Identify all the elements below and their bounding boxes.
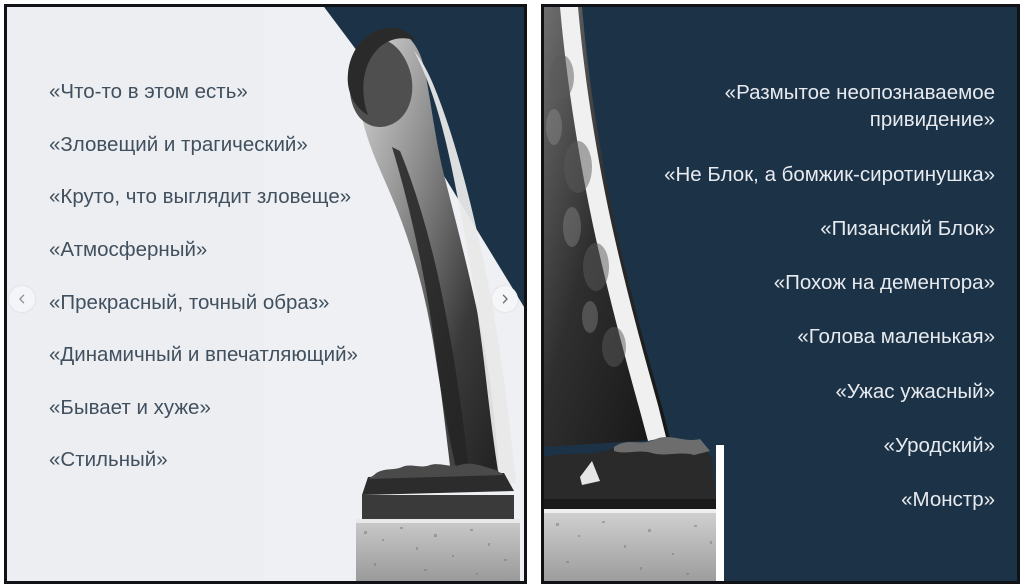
quote-item: «Бывает и хуже»	[49, 395, 449, 421]
quote-item: «Ужас ужасный»	[544, 378, 995, 405]
quote-item: «Стильный»	[49, 447, 449, 473]
carousel-next-button[interactable]	[492, 286, 518, 312]
quote-item: «Прекрасный, точный образ»	[49, 290, 449, 316]
carousel-prev-button[interactable]	[9, 286, 35, 312]
chevron-left-icon	[16, 293, 28, 305]
quote-item: «Пизанский Блок»	[544, 215, 995, 242]
quote-item: «Не Блок, а бомжик-сиротинушка»	[544, 161, 995, 188]
carousel-slide-positive[interactable]: «Что-то в этом есть» «Зловещий и трагиче…	[4, 4, 527, 584]
quote-list-positive: «Что-то в этом есть» «Зловещий и трагиче…	[7, 7, 449, 473]
quote-item: «Что-то в этом есть»	[49, 79, 449, 105]
quote-item: «Атмосферный»	[49, 237, 449, 263]
quote-item: «Монстр»	[544, 486, 995, 513]
quote-item: «Голова маленькая»	[544, 323, 995, 350]
quote-item: «Круто, что выглядит зловеще»	[49, 184, 449, 210]
quote-item: «Уродский»	[544, 432, 995, 459]
quote-item: «Похож на дементора»	[544, 269, 995, 296]
quote-item: «Динамичный и впечатляющий»	[49, 342, 449, 368]
carousel-slide-negative[interactable]: «Размытое неопознаваемое привидение» «Не…	[541, 4, 1020, 584]
quote-carousel: «Что-то в этом есть» «Зловещий и трагиче…	[0, 0, 1024, 587]
quote-list-negative: «Размытое неопознаваемое привидение» «Не…	[544, 7, 1017, 513]
quote-item: «Размытое неопознаваемое привидение»	[544, 79, 995, 134]
quote-item: «Зловещий и трагический»	[49, 132, 449, 158]
chevron-right-icon	[499, 293, 511, 305]
